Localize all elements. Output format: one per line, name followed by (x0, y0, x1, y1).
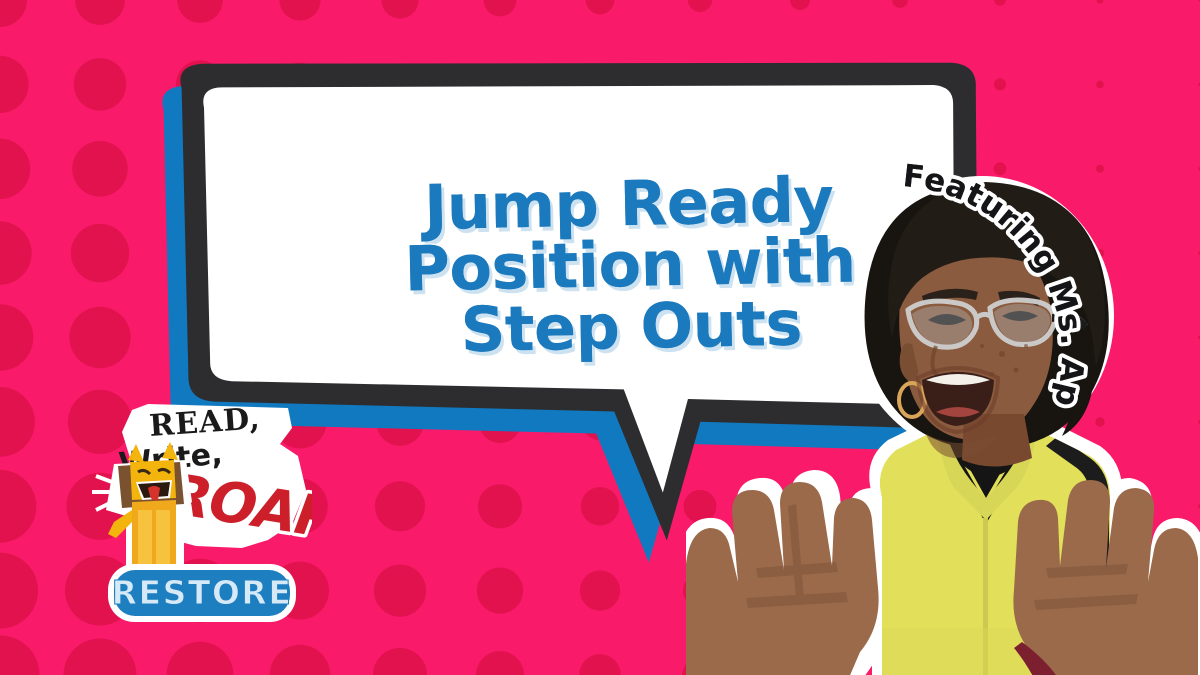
lion-mascot (92, 442, 192, 584)
background-dot (72, 141, 128, 197)
right-hand (1013, 480, 1198, 675)
background-dot (580, 571, 620, 611)
background-dot (74, 58, 127, 111)
presenter-cutout (686, 168, 1200, 675)
background-dot (71, 224, 129, 282)
logo-restore-banner: RESTORE (108, 564, 296, 622)
logo-restore-text: RESTORE (112, 573, 293, 612)
thumbnail-canvas: Jump Ready Position with Step Outs (0, 0, 1200, 675)
read-write-roar-restore-logo[interactable]: READ, Write, ROAR! (92, 398, 312, 643)
background-dot (1096, 81, 1104, 89)
background-dot (69, 307, 130, 368)
background-dot (374, 565, 426, 617)
left-hand (686, 482, 879, 675)
background-dot (477, 568, 523, 614)
